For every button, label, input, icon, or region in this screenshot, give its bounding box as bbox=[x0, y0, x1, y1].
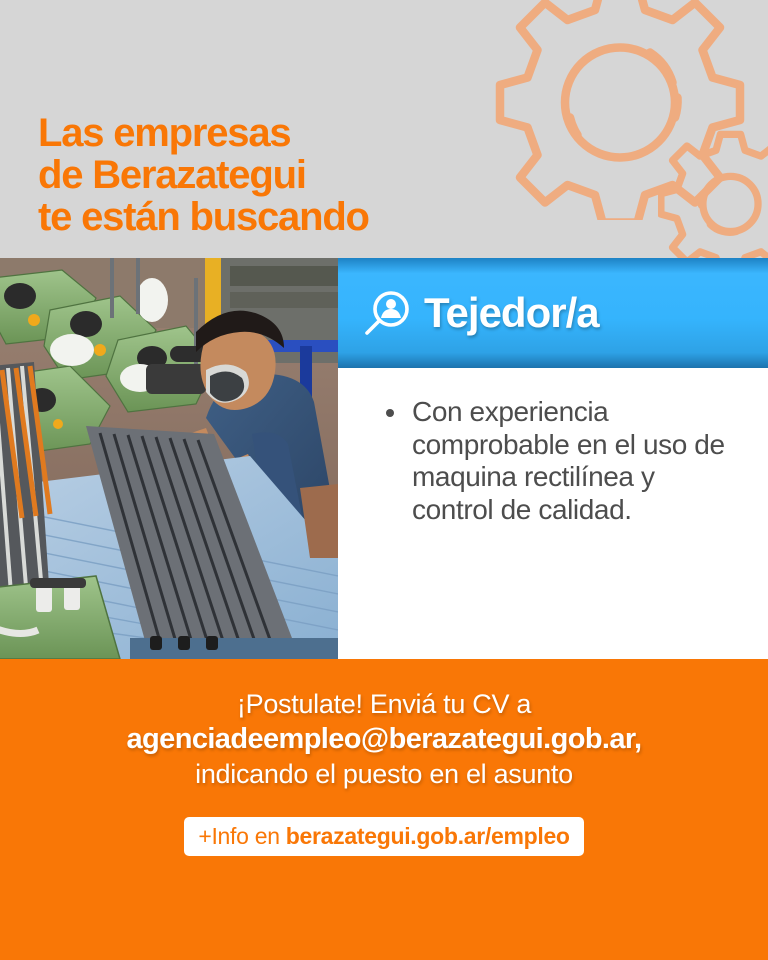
more-info-url[interactable]: berazategui.gob.ar/empleo bbox=[286, 823, 570, 849]
header-section: Las empresas de Berazategui te están bus… bbox=[0, 0, 768, 258]
requirement-text: Con experiencia comprobable en el uso de… bbox=[412, 396, 725, 525]
magnifier-person-icon bbox=[360, 288, 412, 340]
middle-band: Tejedor/a Con experiencia comprobable en… bbox=[0, 258, 768, 659]
gear-small-icon bbox=[658, 130, 768, 258]
more-info-button[interactable]: +Info en berazategui.gob.ar/empleo bbox=[184, 817, 583, 856]
job-posting-poster: Las empresas de Berazategui te están bus… bbox=[0, 0, 768, 960]
cta-line-1: ¡Postulate! Enviá tu CV a bbox=[0, 687, 768, 721]
gear-large-icon bbox=[495, 0, 745, 220]
contact-email[interactable]: agenciadeempleo@berazategui.gob.ar, bbox=[0, 721, 768, 757]
job-title: Tejedor/a bbox=[424, 292, 599, 334]
job-title-bar: Tejedor/a bbox=[338, 258, 768, 368]
worker-weaving-machine-photo bbox=[0, 258, 338, 659]
bullet-icon bbox=[386, 409, 394, 417]
job-requirements-list: Con experiencia comprobable en el uso de… bbox=[338, 368, 768, 659]
requirement-item: Con experiencia comprobable en el uso de… bbox=[386, 396, 738, 526]
footer-section: ¡Postulate! Enviá tu CV a agenciadeemple… bbox=[0, 659, 768, 960]
more-info-prefix: +Info en bbox=[198, 823, 285, 849]
page-title: Las empresas de Berazategui te están bus… bbox=[38, 112, 369, 238]
cta-line-2: indicando el puesto en el asunto bbox=[0, 757, 768, 791]
job-detail-panel: Tejedor/a Con experiencia comprobable en… bbox=[338, 258, 768, 659]
